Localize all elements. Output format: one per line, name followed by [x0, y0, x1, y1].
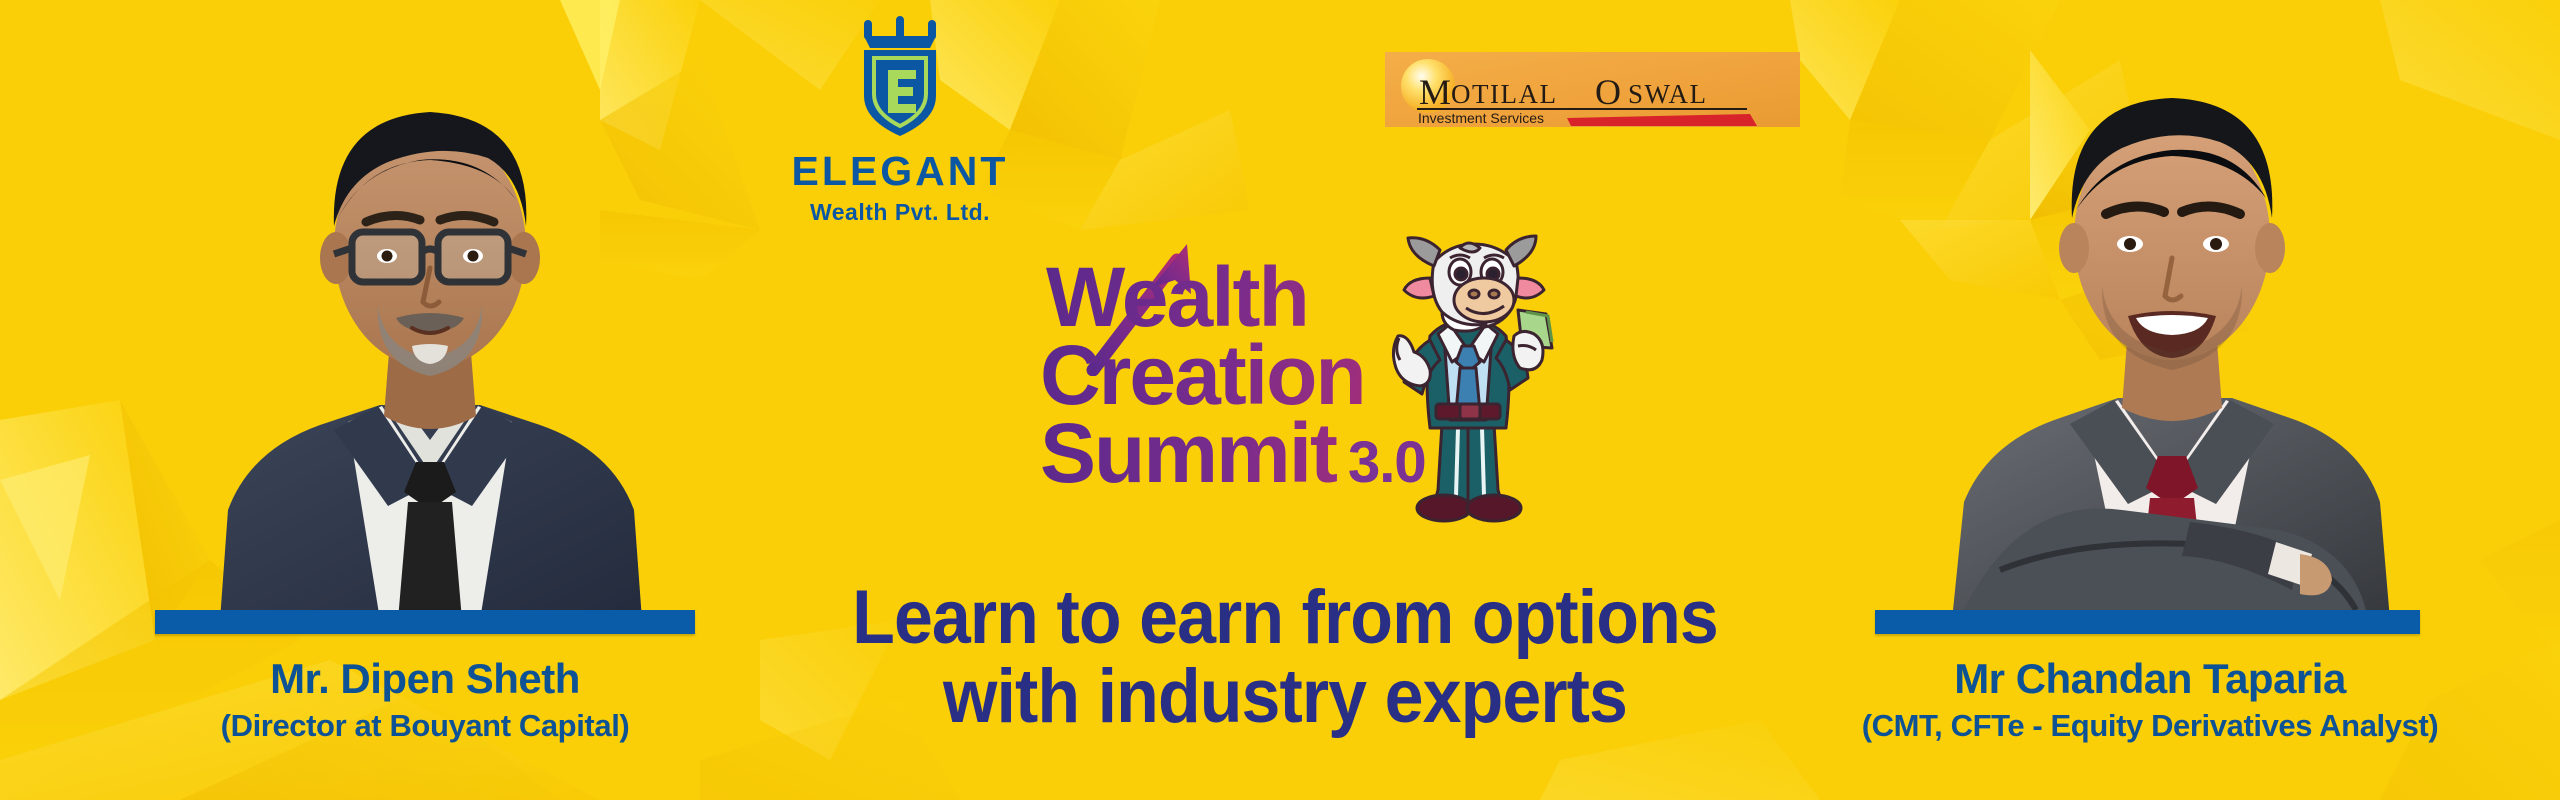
speaker-photo-right	[1860, 10, 2480, 620]
name-underline-bar-left	[155, 610, 695, 634]
name-underline-bar-right	[1875, 610, 2420, 634]
motilal-oswal-logo: M OTILAL O SWAL Investment Services	[1385, 52, 1800, 127]
svg-text:SWAL: SWAL	[1628, 79, 1708, 109]
svg-text:OTILAL: OTILAL	[1451, 79, 1557, 109]
elegant-wealth-logo: ELEGANT Wealth Pvt. Ltd.	[780, 14, 1020, 234]
speaker-right: Mr Chandan Taparia (CMT, CFTe - Equity D…	[1740, 655, 2560, 744]
subtitle-line-1: Learn to earn from options	[802, 578, 1768, 657]
speaker-role-right: (CMT, CFTe - Equity Derivatives Analyst)	[1740, 707, 2560, 744]
speaker-role-left: (Director at Bouyant Capital)	[20, 707, 830, 744]
speaker-left: Mr. Dipen Sheth (Director at Bouyant Cap…	[20, 655, 830, 744]
event-subtitle: Learn to earn from options with industry…	[760, 578, 1810, 736]
svg-text:Investment Services: Investment Services	[1418, 110, 1544, 126]
title-summit-word: Summit	[1040, 406, 1336, 500]
bull-mascot-icon	[1368, 228, 1568, 528]
promo-banner: Mr. Dipen Sheth (Director at Bouyant Cap…	[0, 0, 2560, 800]
elegant-logo-name: ELEGANT	[780, 151, 1020, 192]
elegant-logo-subtitle: Wealth Pvt. Ltd.	[780, 199, 1020, 226]
speaker-name-right: Mr Chandan Taparia	[1740, 655, 2560, 703]
speaker-name-left: Mr. Dipen Sheth	[20, 655, 830, 703]
subtitle-line-2: with industry experts	[802, 657, 1768, 736]
svg-text:M: M	[1419, 72, 1451, 112]
crown-shield-icon	[780, 14, 1020, 142]
svg-text:O: O	[1595, 72, 1621, 112]
speaker-photo-left	[120, 10, 740, 620]
